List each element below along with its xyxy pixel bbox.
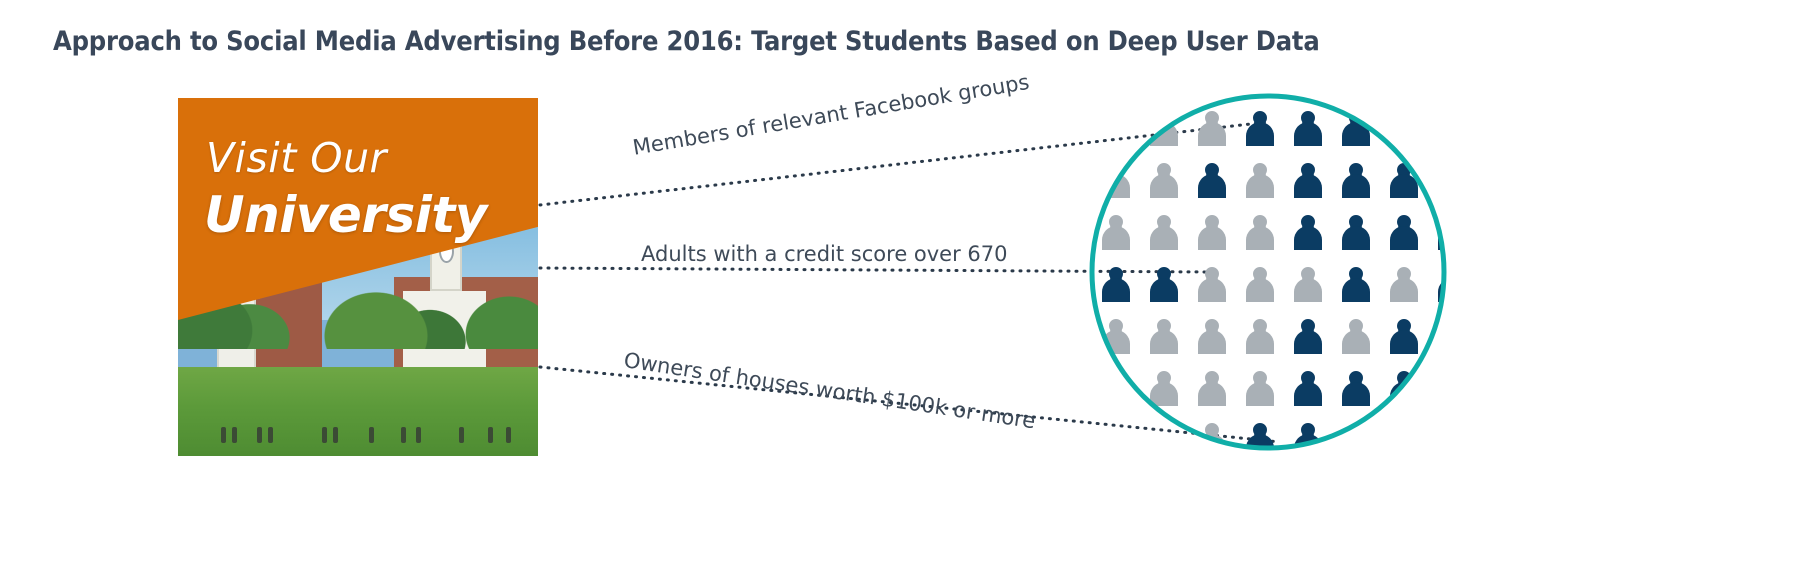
person-icon	[1198, 163, 1226, 198]
person-icon	[1342, 215, 1370, 250]
person-icon	[1246, 163, 1274, 198]
person-icon	[1102, 111, 1130, 146]
person-icon	[1150, 319, 1178, 354]
person-icon	[1294, 319, 1322, 354]
person-icon	[1294, 267, 1322, 302]
person-icon	[1246, 423, 1274, 458]
audience-population-circle[interactable]	[1080, 82, 1480, 482]
person-icon	[1150, 423, 1178, 458]
person-icon	[1390, 267, 1418, 302]
person-icon	[1342, 319, 1370, 354]
annotation-label-2: Adults with a credit score over 670	[641, 242, 1008, 266]
person-icon	[1246, 319, 1274, 354]
person-icon	[1294, 111, 1322, 146]
person-icon	[1342, 163, 1370, 198]
person-icon	[1438, 371, 1466, 406]
person-icon	[1390, 371, 1418, 406]
person-icon	[1198, 111, 1226, 146]
person-icon	[1438, 111, 1466, 146]
person-icon	[1246, 371, 1274, 406]
person-icon	[1150, 215, 1178, 250]
person-icon	[1390, 111, 1418, 146]
connector-lines-layer	[0, 0, 1806, 583]
person-icon	[1438, 163, 1466, 198]
person-icon	[1294, 163, 1322, 198]
person-icon	[1198, 267, 1226, 302]
person-icon	[1390, 163, 1418, 198]
person-icon	[1390, 319, 1418, 354]
person-icon	[1246, 111, 1274, 146]
person-icon	[1150, 371, 1178, 406]
person-icon	[1150, 163, 1178, 198]
person-icon	[1342, 267, 1370, 302]
slide-canvas: Approach to Social Media Advertising Bef…	[0, 0, 1806, 583]
person-icon	[1246, 267, 1274, 302]
person-icon	[1438, 423, 1466, 458]
person-icon	[1294, 371, 1322, 406]
person-icon	[1102, 215, 1130, 250]
person-icon	[1198, 371, 1226, 406]
person-icon	[1438, 319, 1466, 354]
person-icon	[1198, 215, 1226, 250]
person-icon	[1342, 371, 1370, 406]
person-icon	[1198, 319, 1226, 354]
person-icon	[1390, 215, 1418, 250]
person-icon	[1102, 267, 1130, 302]
person-icon	[1246, 215, 1274, 250]
person-icon	[1150, 267, 1178, 302]
person-icon	[1102, 423, 1130, 458]
person-icon	[1294, 215, 1322, 250]
person-icon	[1390, 423, 1418, 458]
